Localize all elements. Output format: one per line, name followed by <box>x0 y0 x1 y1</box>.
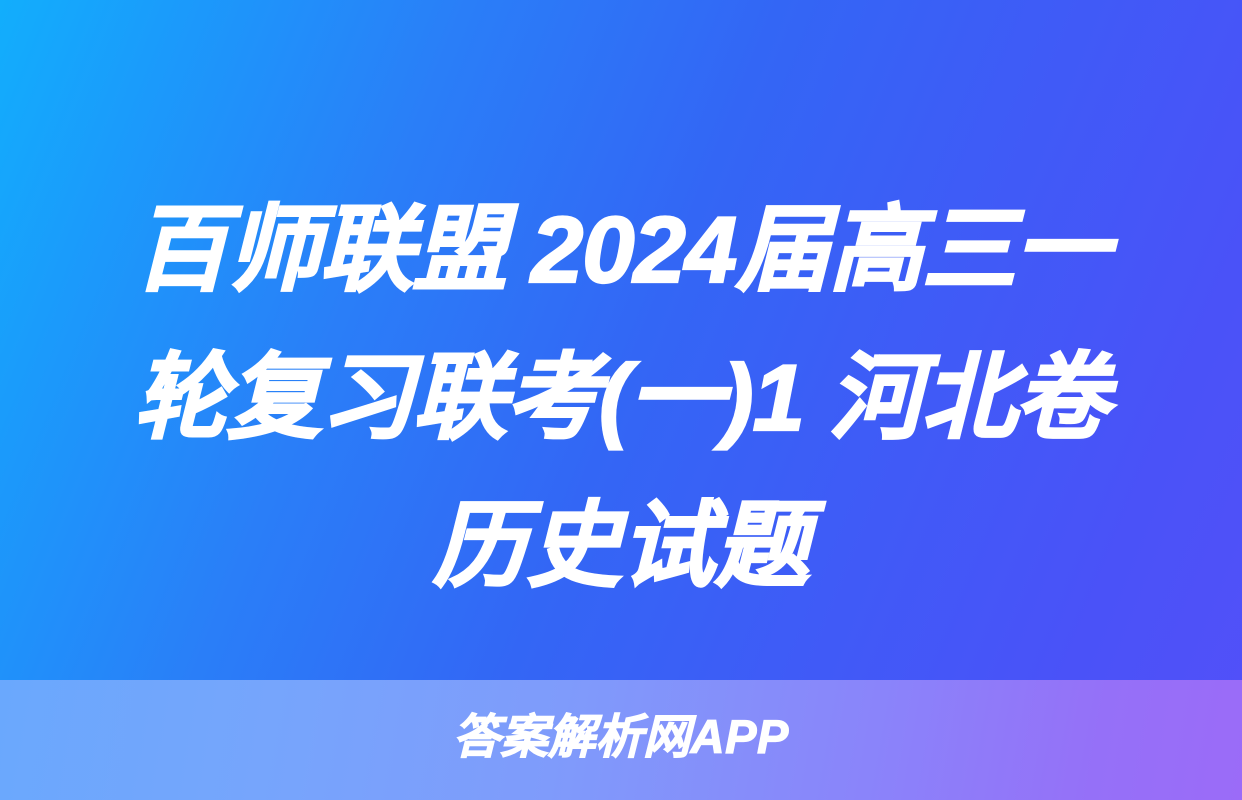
title-line-2: 轮复习联考(一)1 河北卷 <box>0 324 1242 472</box>
watermark-brand: 答案解析网APP <box>0 706 1242 768</box>
title-line-1: 百师联盟 2024届高三一 <box>0 176 1242 324</box>
page-title: 百师联盟 2024届高三一 轮复习联考(一)1 河北卷 历史试题 <box>0 176 1242 620</box>
exam-cover-poster: 百师联盟 2024届高三一 轮复习联考(一)1 河北卷 历史试题 答案解析网AP… <box>0 0 1242 800</box>
title-line-3: 历史试题 <box>0 472 1242 620</box>
